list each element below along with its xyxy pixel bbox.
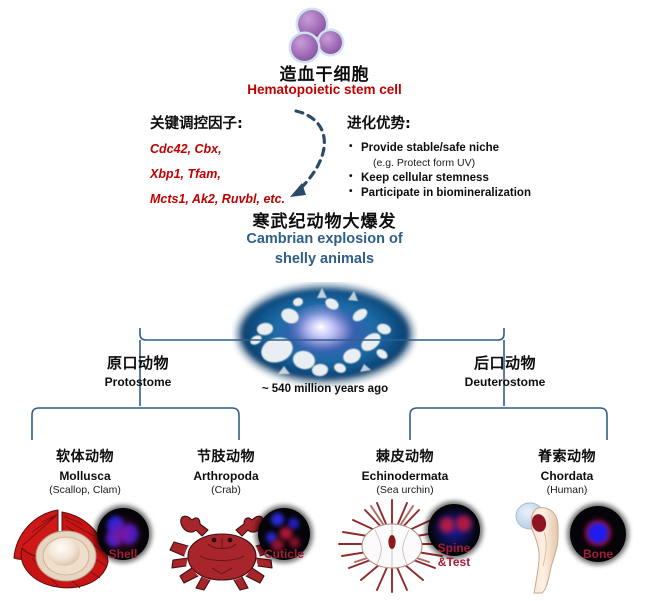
structure-label-spine-test: Spine &Test [418,542,490,570]
structure-label-shell: Shell [88,548,158,562]
advantage-bullet: Participate in biomineralization [347,187,557,199]
branch-english: Deuterostome [420,375,590,389]
advantage-bullet: Provide stable/safe niche [347,142,557,154]
branch-english: Protostome [58,375,218,389]
hsc-title-english: Hematopoietic stem cell [0,82,649,97]
advantages-heading: 进化优势: [347,112,557,133]
femur-bone-illustration [508,498,578,594]
taxon-english: Chordata [492,469,642,483]
advantage-bullet: Keep cellular stemness [347,172,557,184]
curved-dashed-arrow-icon [278,105,350,203]
cambrian-title-line2: shelly animals [0,250,649,270]
taxon-english: Echinodermata [330,469,480,483]
crab-illustration [168,500,276,592]
taxon-english: Arthropoda [151,469,301,483]
taxon-common-name: (Human) [492,484,642,496]
hsc-cell-cluster [283,8,363,64]
cambrian-title-english: Cambrian explosion of shelly animals [0,230,649,269]
structure-label-line2: &Test [418,556,490,570]
branch-chinese: 后口动物 [420,352,590,373]
top-split-connector [140,328,504,340]
taxon-mollusca: 软体动物 Mollusca (Scallop, Clam) [10,446,160,496]
cambrian-title-line1: Cambrian explosion of [0,230,649,250]
cambrian-title-chinese: 寒武纪动物大爆发 [0,207,649,232]
taxon-chordata: 脊索动物 Chordata (Human) [492,446,642,496]
branch-deuterostome: 后口动物 Deuterostome [420,352,590,389]
advantage-subnote: (e.g. Protect form UV) [347,157,557,169]
taxon-chinese: 软体动物 [10,446,160,466]
protostome-split [32,408,239,440]
branch-protostome: 原口动物 Protostome [58,352,218,389]
taxon-common-name: (Crab) [151,484,301,496]
taxon-common-name: (Scallop, Clam) [10,484,160,496]
stem-cell-icon [291,34,318,61]
branch-chinese: 原口动物 [58,352,218,373]
taxon-echinodermata: 棘皮动物 Echinodermata (Sea urchin) [330,446,480,496]
deuterostome-split [410,408,607,440]
taxon-chinese: 脊索动物 [492,446,642,466]
advantages-panel: 进化优势: Provide stable/safe niche (e.g. Pr… [347,112,557,202]
structure-label-bone: Bone [563,548,633,562]
structure-label-cuticle: Cuticle [248,548,320,562]
taxon-english: Mollusca [10,469,160,483]
taxon-chinese: 棘皮动物 [330,446,480,466]
stem-cell-icon [319,31,342,54]
taxon-chinese: 节肢动物 [151,446,301,466]
structure-label-line1: Spine [418,542,490,556]
taxon-arthropoda: 节肢动物 Arthropoda (Crab) [151,446,301,496]
taxon-common-name: (Sea urchin) [330,484,480,496]
